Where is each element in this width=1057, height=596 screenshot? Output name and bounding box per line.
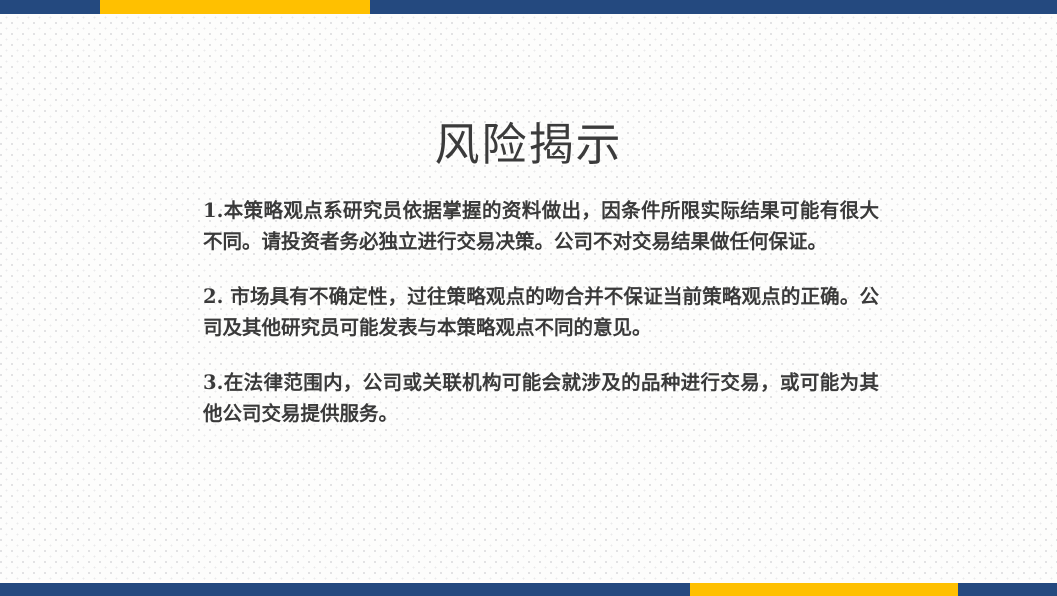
top-band-blue-left: [0, 0, 100, 14]
risk-paragraph-3: 3.在法律范围内，公司或关联机构可能会就涉及的品种进行交易，或可能为其他公司交易…: [203, 368, 879, 429]
risk-paragraph-1: 1.本策略观点系研究员依据掌握的资料做出，因条件所限实际结果可能有很大不同。请投…: [203, 196, 879, 257]
risk-paragraph-2: 2. 市场具有不确定性，过往策略观点的吻合并不保证当前策略观点的正确。公司及其他…: [203, 282, 879, 343]
bottom-band-blue-right: [958, 583, 1057, 596]
bottom-band-yellow: [690, 583, 958, 596]
bottom-decor-band: [0, 583, 1057, 596]
slide-root: 风险揭示 1.本策略观点系研究员依据掌握的资料做出，因条件所限实际结果可能有很大…: [0, 0, 1057, 596]
top-decor-band: [0, 0, 1057, 14]
body-text-block: 1.本策略观点系研究员依据掌握的资料做出，因条件所限实际结果可能有很大不同。请投…: [203, 196, 879, 429]
bottom-band-blue-left: [0, 583, 690, 596]
top-band-yellow: [100, 0, 370, 14]
top-band-blue-right: [370, 0, 1057, 14]
slide-content: 风险揭示 1.本策略观点系研究员依据掌握的资料做出，因条件所限实际结果可能有很大…: [0, 0, 1057, 596]
page-title: 风险揭示: [0, 117, 1057, 173]
